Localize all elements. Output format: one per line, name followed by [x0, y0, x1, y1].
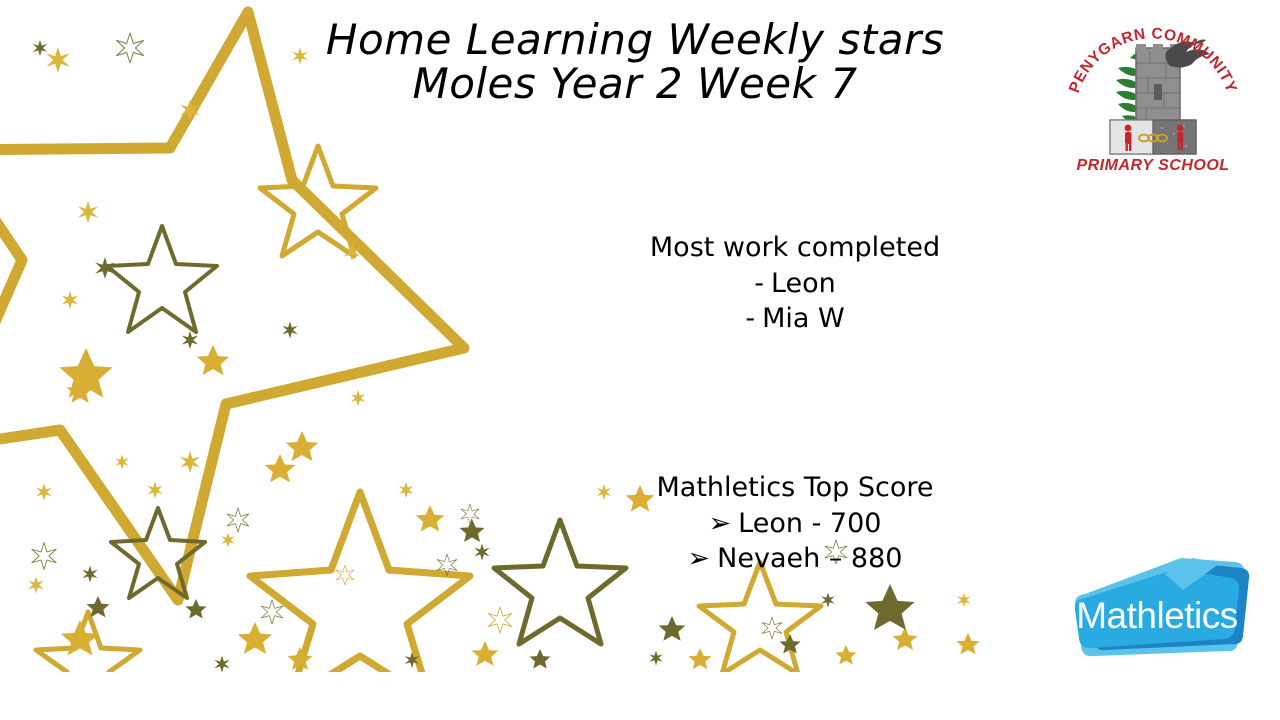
mathletics-top-score-block: Mathletics Top Score ➢Leon - 700 ➢Nevaeh… — [545, 470, 1045, 577]
medium-olive-star-1 — [107, 226, 217, 332]
page-title: Home Learning Weekly stars Moles Year 2 … — [255, 18, 1015, 105]
mathletics-logo-text: Mathletics — [1076, 595, 1238, 636]
most-work-item-2-label: Mia W — [762, 303, 845, 334]
mathletics-item-1: ➢Leon - 700 — [545, 506, 1045, 542]
most-work-completed-block: Most work completed -Leon -Mia W — [545, 230, 1045, 337]
slide-canvas: Home Learning Weekly stars Moles Year 2 … — [0, 0, 1280, 720]
book-base-icon — [1110, 120, 1196, 154]
medium-gold-star-3 — [699, 562, 821, 672]
arrow-bullet-icon: ➢ — [688, 541, 711, 577]
mathletics-item-2-label: Nevaeh – 880 — [717, 543, 902, 574]
dash-bullet-icon: - — [745, 301, 755, 337]
medium-gold-star-1 — [250, 492, 470, 672]
mathletics-item-2: ➢Nevaeh – 880 — [545, 541, 1045, 577]
olive-sparkles — [33, 40, 835, 672]
most-work-item-2: -Mia W — [545, 301, 1045, 337]
medium-olive-star-2 — [111, 508, 205, 598]
mathletics-heading: Mathletics Top Score — [545, 470, 1045, 506]
arrow-bullet-icon: ➢ — [709, 506, 732, 542]
mathletics-logo: Mathletics — [1053, 556, 1265, 668]
most-work-item-1: -Leon — [545, 266, 1045, 302]
dash-bullet-icon: - — [754, 266, 764, 302]
medium-gold-star-2 — [260, 146, 376, 256]
title-line-2: Moles Year 2 Week 7 — [255, 62, 1015, 106]
school-logo-bottom-text: PRIMARY SCHOOL — [1076, 157, 1229, 174]
most-work-heading: Most work completed — [545, 230, 1045, 266]
mathletics-item-1-label: Leon - 700 — [738, 508, 881, 539]
medium-gold-star-4 — [36, 612, 140, 672]
title-line-1: Home Learning Weekly stars — [255, 18, 1015, 62]
gold-outline-sparkles — [336, 565, 512, 633]
penygarn-community-primary-school-logo: PENYGARN COMMUNITY PRIMARY SCHOOL — [1058, 8, 1248, 176]
most-work-item-1-label: Leon — [771, 268, 836, 299]
